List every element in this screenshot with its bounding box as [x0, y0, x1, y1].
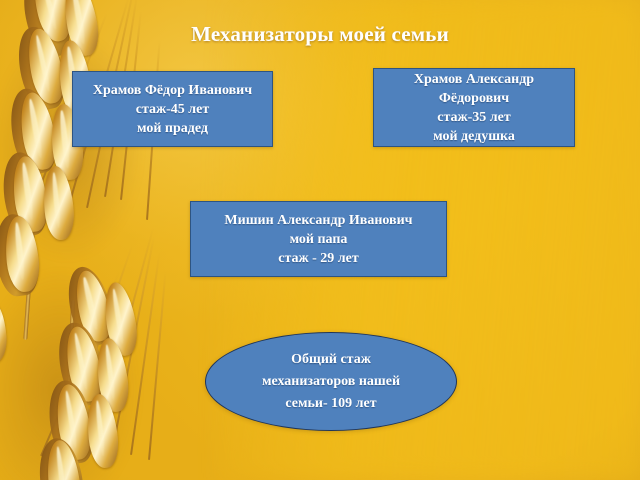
total-experience-ellipse[interactable]: Общий стаж механизаторов нашей семьи- 10… — [205, 332, 457, 431]
person-box-great-grandfather[interactable]: Храмов Фёдор Иванович стаж-45 лет мой пр… — [72, 71, 273, 147]
person-box-father[interactable]: Мишин Александр Иванович мой папа стаж -… — [190, 201, 447, 277]
person-name-second: Фёдорович — [439, 89, 509, 108]
person-years: стаж-45 лет — [136, 100, 210, 119]
person-name: Мишин Александр Иванович — [224, 211, 412, 230]
person-relation: мой прадед — [137, 119, 208, 138]
person-relation: мой дедушка — [433, 127, 515, 146]
total-label-line-2: механизаторов нашей — [262, 371, 400, 393]
person-years: стаж - 29 лет — [278, 249, 359, 268]
page-title: Механизаторы моей семьи — [0, 22, 640, 47]
person-relation: мой папа — [290, 230, 348, 249]
total-label-line-3: семьи- 109 лет — [285, 393, 376, 415]
person-name-first: Храмов Александр — [414, 70, 534, 89]
total-label-line-1: Общий стаж — [291, 349, 371, 371]
presentation-slide: Механизаторы моей семьи Храмов Фёдор Ива… — [0, 0, 640, 480]
person-box-grandfather[interactable]: Храмов Александр Фёдорович стаж-35 лет м… — [373, 68, 575, 147]
person-name: Храмов Фёдор Иванович — [93, 81, 252, 100]
person-years: стаж-35 лет — [437, 108, 511, 127]
